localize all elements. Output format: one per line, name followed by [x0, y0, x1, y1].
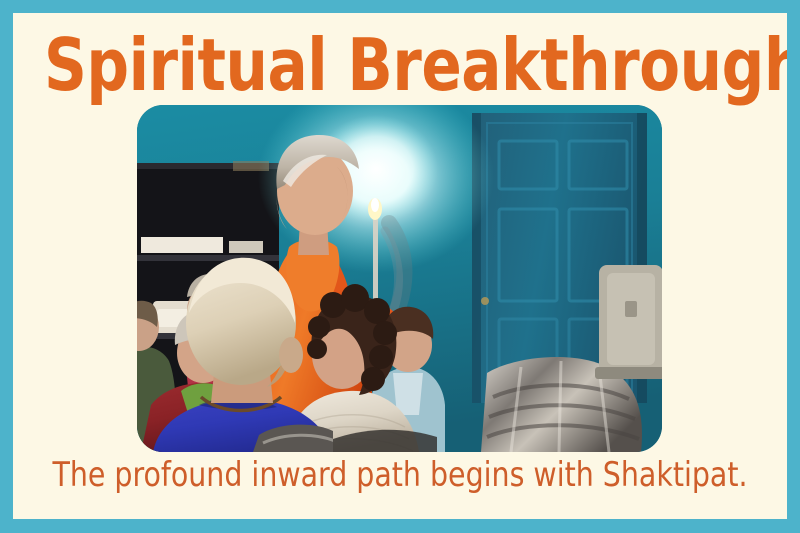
photo-meditation-session [137, 105, 662, 452]
poster-inner: Spiritual Breakthrough [13, 13, 787, 519]
poster: Spiritual Breakthrough [0, 0, 800, 533]
page-title: Spiritual Breakthrough [44, 25, 756, 105]
photo-illustration [137, 105, 662, 452]
caption-text: The profound inward path begins with Sha… [40, 455, 760, 495]
folding-chair [595, 265, 662, 379]
